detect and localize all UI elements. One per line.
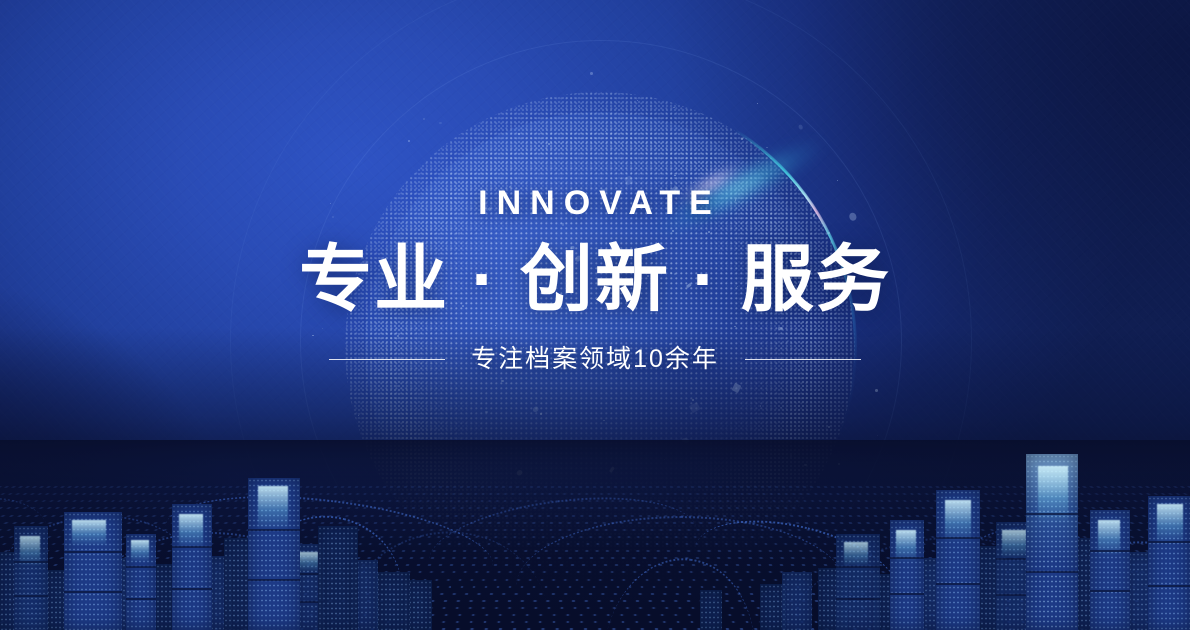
building-band <box>1026 571 1078 573</box>
building-band <box>890 593 924 595</box>
building-band <box>936 583 980 585</box>
skyline-building <box>700 590 722 630</box>
building-band <box>248 579 300 581</box>
building-band <box>890 557 924 559</box>
building-band <box>64 551 122 553</box>
skyline-building <box>1026 454 1078 630</box>
left-rule-decoration <box>329 359 445 360</box>
building-band <box>836 566 880 568</box>
building-band <box>64 591 122 593</box>
skyline-building <box>936 490 980 630</box>
skyline-building <box>1090 510 1130 630</box>
building-lit-face <box>1038 466 1068 524</box>
building-band <box>172 546 212 548</box>
building-lit-face <box>258 486 288 530</box>
building-lit-face <box>945 500 971 542</box>
skyline-building <box>64 512 122 630</box>
skyline-building <box>14 526 48 630</box>
skyline-building <box>890 520 924 630</box>
right-rule-decoration <box>745 359 861 360</box>
building-lit-face <box>131 540 149 562</box>
skyline-building <box>172 504 212 630</box>
building-band <box>1090 550 1130 552</box>
building-band <box>14 561 48 563</box>
skyline-building <box>836 534 880 630</box>
wave-particle-row <box>0 486 1190 487</box>
building-lit-face <box>179 514 203 548</box>
skyline-building <box>248 478 300 630</box>
building-band <box>1026 513 1078 515</box>
building-lit-face <box>844 542 868 566</box>
building-lit-face <box>298 552 318 572</box>
wave-particle-row <box>0 494 1190 495</box>
banner-subtitle-row: 专注档案领域10余年 <box>0 347 1190 372</box>
building-band <box>836 598 880 600</box>
building-band <box>1148 541 1190 543</box>
building-band <box>14 595 48 597</box>
skyline-building <box>126 534 156 630</box>
building-lit-face <box>1157 504 1183 544</box>
skyline-building <box>318 526 358 630</box>
banner-subtitle: 专注档案领域10余年 <box>471 347 719 372</box>
building-band <box>1090 590 1130 592</box>
banner-headline: 专业 · 创新 · 服务 <box>0 242 1190 318</box>
hero-banner: INNOVATE 专业 · 创新 · 服务 专注档案领域10余年 <box>0 0 1190 630</box>
banner-content: INNOVATE 专业 · 创新 · 服务 专注档案领域10余年 <box>0 186 1190 372</box>
building-band <box>126 566 156 568</box>
skyline-building <box>376 572 410 630</box>
building-band <box>172 588 212 590</box>
skyline-building <box>782 572 812 630</box>
banner-eyebrow: INNOVATE <box>0 186 1190 220</box>
building-lit-face <box>1002 530 1026 558</box>
building-band <box>248 529 300 531</box>
skyline-building <box>1148 496 1190 630</box>
building-band <box>126 598 156 600</box>
building-band <box>1148 585 1190 587</box>
building-band <box>936 537 980 539</box>
building-lit-face <box>72 520 106 546</box>
